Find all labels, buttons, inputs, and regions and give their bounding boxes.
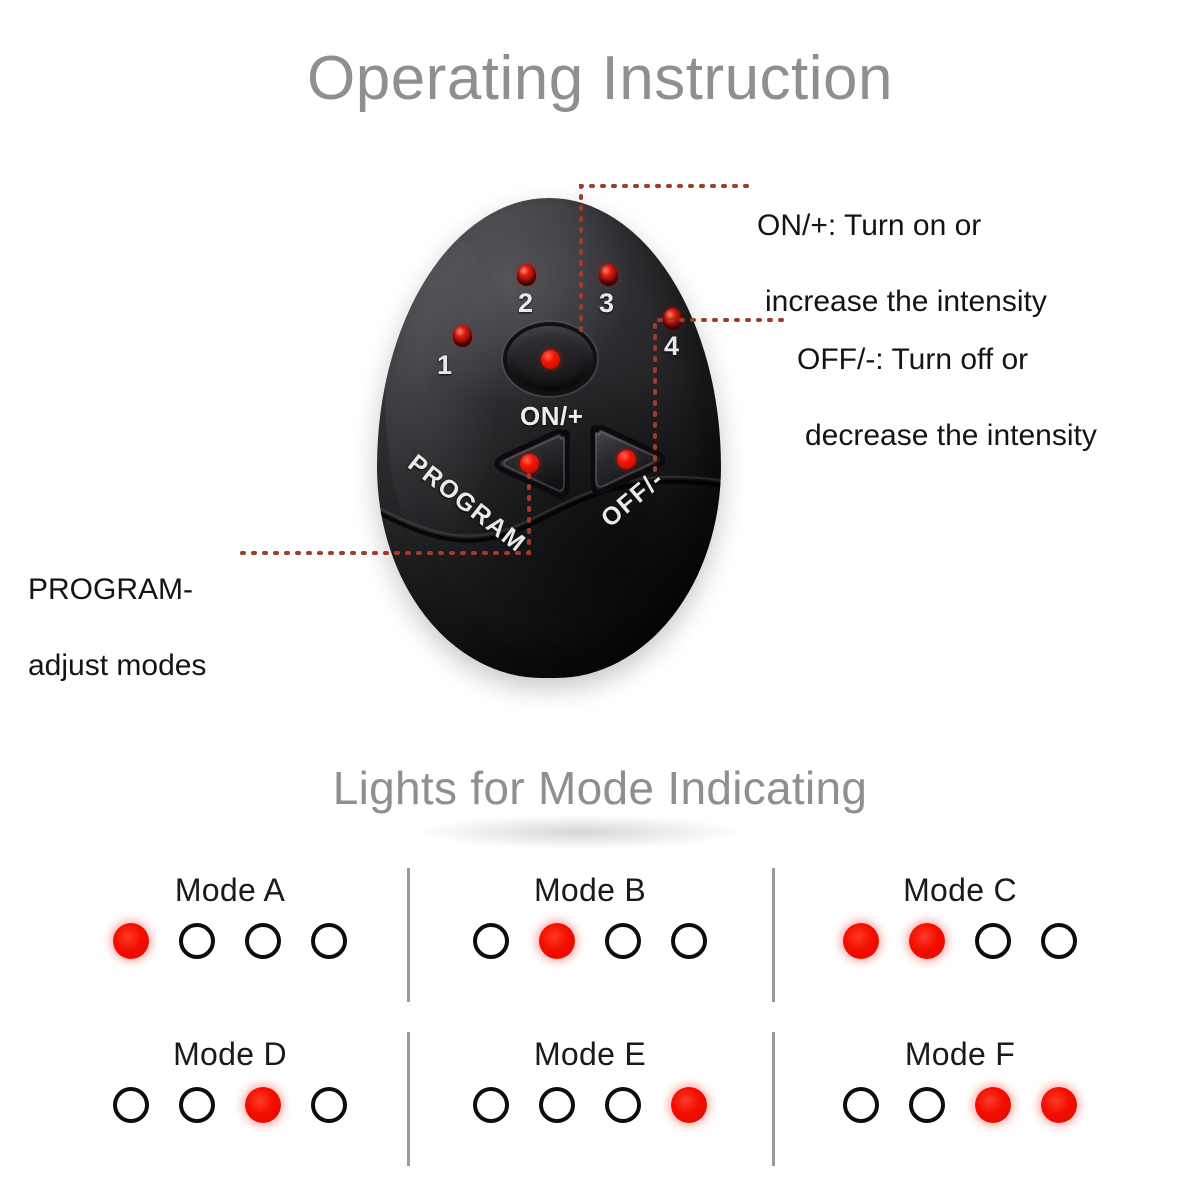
device-body: 1 2 3 4 ON/+ PROGRAM [377,198,721,678]
device-led-4 [663,308,682,330]
mode-c-light-1 [843,923,879,959]
device-led-4-number: 4 [664,331,679,362]
device-led-3-number: 3 [599,288,614,319]
mode-e-lights [405,1087,775,1123]
mode-d-label: Mode D [45,1036,415,1073]
callout-on-plus-line1: ON/+: Turn on or [757,207,1047,245]
page-title: Operating Instruction [0,46,1200,111]
callout-off-minus-line1: OFF/-: Turn off or [797,341,1097,379]
device-led-1-number: 1 [437,350,452,381]
mode-b-light-3 [605,923,641,959]
mode-e-light-2 [539,1087,575,1123]
program-button-dot [520,454,539,473]
mode-cell-a: Mode A [45,872,415,959]
mode-cell-f: Mode F [775,1036,1145,1123]
callout-program-line1: PROGRAM- [28,571,206,609]
mode-cell-b: Mode B [405,872,775,959]
mode-e-light-3 [605,1087,641,1123]
mode-d-light-2 [179,1087,215,1123]
mode-a-lights [45,923,415,959]
mode-b-light-1 [473,923,509,959]
mode-c-light-2 [909,923,945,959]
mode-f-lights [775,1087,1145,1123]
mode-f-label: Mode F [775,1036,1145,1073]
mode-a-light-1 [113,923,149,959]
mode-c-light-4 [1041,923,1077,959]
mode-c-lights [775,923,1145,959]
mode-c-label: Mode C [775,872,1145,909]
mode-d-light-3 [245,1087,281,1123]
mode-d-light-1 [113,1087,149,1123]
device-led-2 [517,264,536,286]
mode-b-lights [405,923,775,959]
mode-a-light-2 [179,923,215,959]
device-drop-shadow [420,815,740,849]
callout-off-minus: OFF/-: Turn off or decrease the intensit… [797,303,1097,493]
device-led-1 [453,325,472,347]
callout-program: PROGRAM- adjust modes [28,533,206,723]
mode-a-light-4 [311,923,347,959]
mode-indicator-grid: Mode A Mode B Mode C Mode D [0,852,1200,1182]
mode-cell-e: Mode E [405,1036,775,1123]
mode-e-light-4 [671,1087,707,1123]
mode-cell-d: Mode D [45,1036,415,1123]
mode-b-light-2 [539,923,575,959]
off-minus-button-dot [617,450,636,469]
mode-cell-c: Mode C [775,872,1145,959]
mode-a-light-3 [245,923,281,959]
on-plus-button-dot [541,350,560,369]
mode-f-light-1 [843,1087,879,1123]
mode-f-light-3 [975,1087,1011,1123]
device-led-3 [599,264,618,286]
mode-d-light-4 [311,1087,347,1123]
mode-f-light-4 [1041,1087,1077,1123]
callout-program-line2: adjust modes [28,647,206,685]
mode-e-light-1 [473,1087,509,1123]
mode-b-light-4 [671,923,707,959]
mode-c-light-3 [975,923,1011,959]
mode-d-lights [45,1087,415,1123]
mode-e-label: Mode E [405,1036,775,1073]
mode-a-label: Mode A [45,872,415,909]
mode-b-label: Mode B [405,872,775,909]
mode-f-light-2 [909,1087,945,1123]
device-led-2-number: 2 [518,288,533,319]
callout-off-minus-line2: decrease the intensity [797,417,1097,455]
section-title-lights: Lights for Mode Indicating [0,764,1200,812]
